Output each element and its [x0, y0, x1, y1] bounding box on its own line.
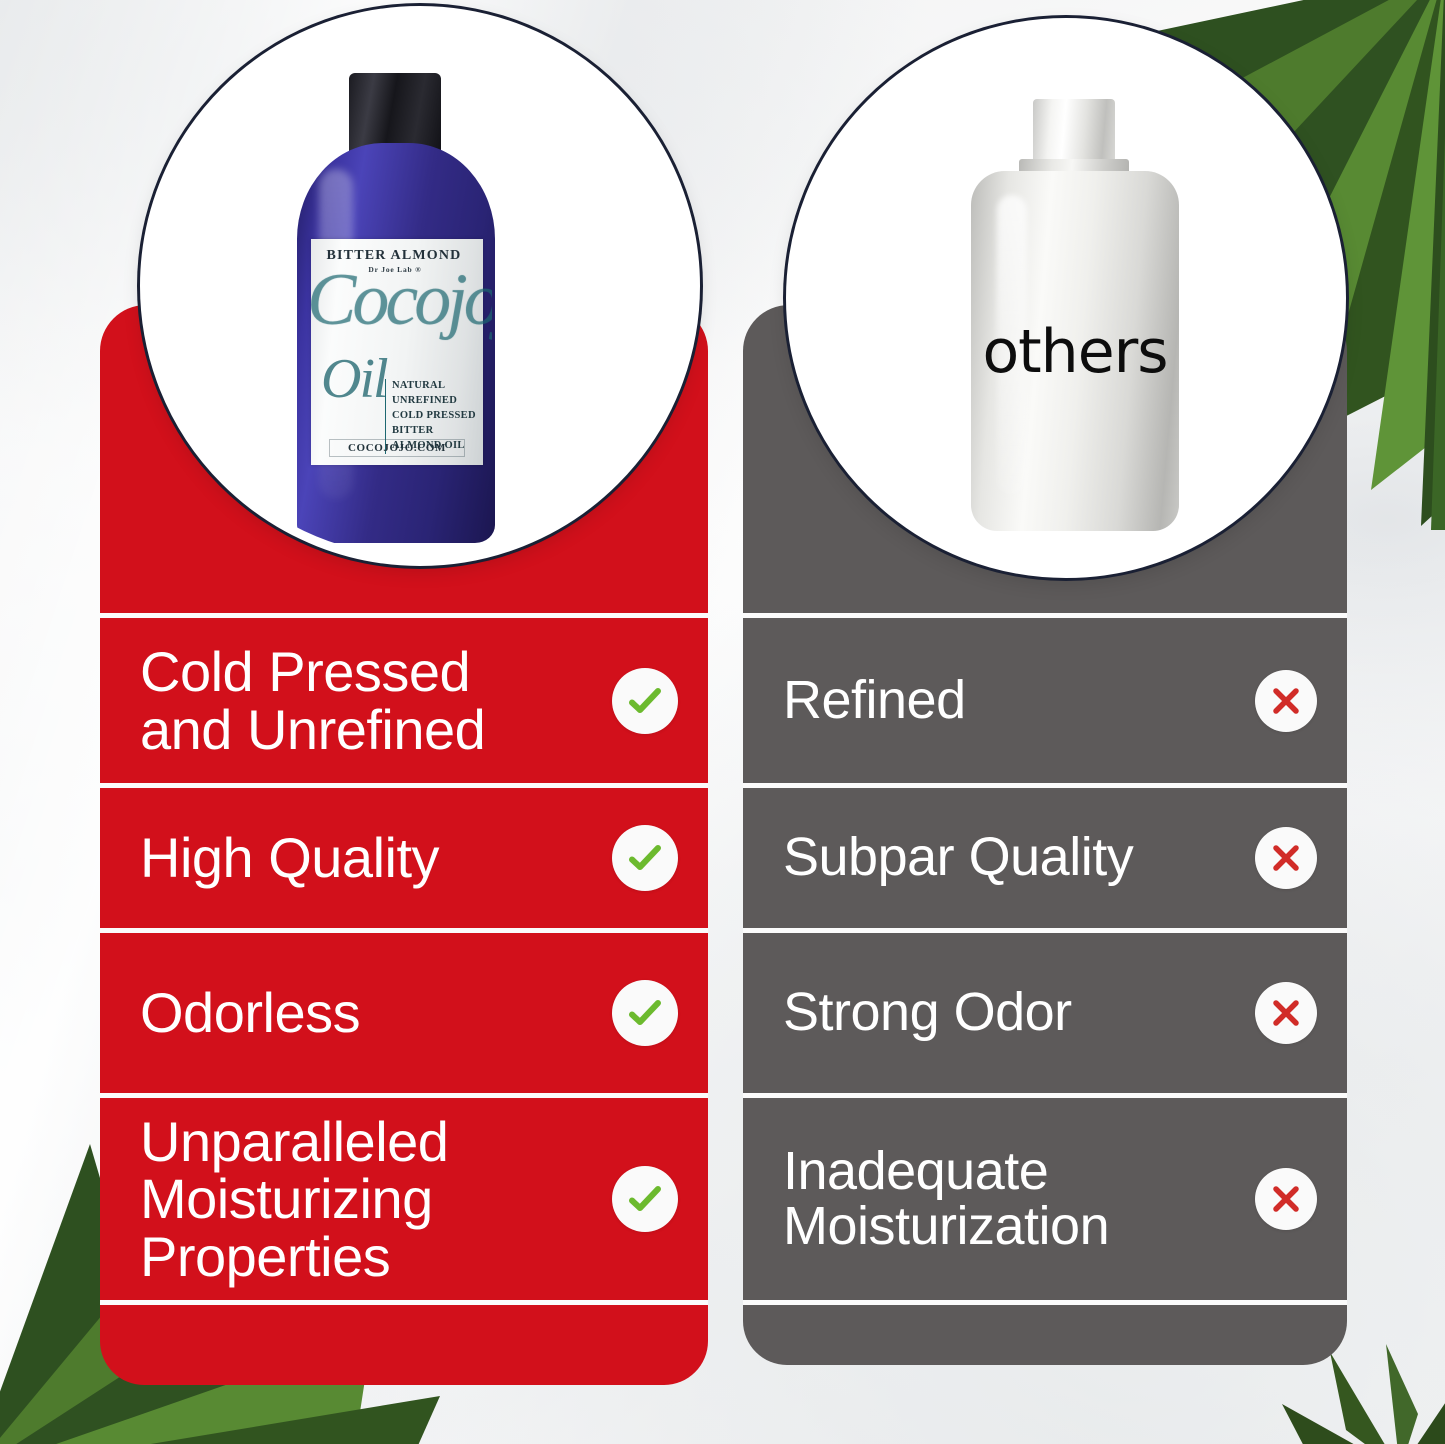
- cross-icon-badge: [1255, 827, 1317, 889]
- check-icon-badge: [612, 1166, 678, 1232]
- others-bottle-image: others: [971, 99, 1179, 531]
- feature-label: Unparalleled Moisturizing Properties: [140, 1113, 448, 1284]
- check-icon: [625, 838, 665, 878]
- bottle-label-title: BITTER ALMOND: [311, 248, 477, 264]
- cross-icon-badge: [1255, 982, 1317, 1044]
- check-icon: [625, 1179, 665, 1219]
- product-image-inner: Cocojojo Oil BITTER ALMOND Dr Joe Lab ® …: [149, 15, 691, 557]
- cross-icon-badge: [1255, 1168, 1317, 1230]
- feature-row-inadequate-moisturization[interactable]: Inadequate Moisturization: [743, 1093, 1347, 1300]
- bottle-label-website: COCOJOJO.COM: [329, 439, 465, 457]
- cross-icon: [1268, 1181, 1304, 1217]
- feature-row-cold-pressed[interactable]: Cold Pressed and Unrefined: [100, 613, 708, 783]
- feature-label: Strong Odor: [783, 985, 1072, 1040]
- check-icon-badge: [612, 980, 678, 1046]
- feature-label: Cold Pressed and Unrefined: [140, 643, 485, 757]
- cross-icon: [1268, 683, 1304, 719]
- product-image-inner: others: [795, 27, 1337, 569]
- feature-label: Refined: [783, 673, 966, 728]
- feature-row-high-quality[interactable]: High Quality: [100, 783, 708, 928]
- feature-rows-bad: Refined Subpar Quality Strong Odor: [743, 613, 1347, 1365]
- bottle-label-subtitle: Dr Joe Lab ®: [311, 265, 479, 274]
- bottle-neck: [1033, 99, 1115, 167]
- feature-label: Odorless: [140, 984, 360, 1041]
- cross-icon-badge: [1255, 670, 1317, 732]
- cross-icon: [1268, 995, 1304, 1031]
- feature-row-refined[interactable]: Refined: [743, 613, 1347, 783]
- others-bottle-label: others: [971, 317, 1179, 387]
- feature-row-odorless[interactable]: Odorless: [100, 928, 708, 1093]
- feature-row-strong-odor[interactable]: Strong Odor: [743, 928, 1347, 1093]
- feature-label: High Quality: [140, 829, 439, 886]
- cross-icon: [1268, 840, 1304, 876]
- product-image-circle-others[interactable]: others: [786, 18, 1346, 578]
- check-icon: [625, 681, 665, 721]
- bottle-label: Cocojojo Oil BITTER ALMOND Dr Joe Lab ® …: [311, 239, 483, 465]
- card-footer-good: [100, 1300, 708, 1385]
- check-icon-badge: [612, 825, 678, 891]
- feature-row-subpar-quality[interactable]: Subpar Quality: [743, 783, 1347, 928]
- feature-row-moisturizing[interactable]: Unparalleled Moisturizing Properties: [100, 1093, 708, 1300]
- feature-label: Subpar Quality: [783, 830, 1133, 885]
- feature-label: Inadequate Moisturization: [783, 1144, 1109, 1254]
- card-footer-bad: [743, 1300, 1347, 1365]
- cocojojo-bottle-image: Cocojojo Oil BITTER ALMOND Dr Joe Lab ® …: [297, 73, 495, 543]
- product-image-circle-cocojojo[interactable]: Cocojojo Oil BITTER ALMOND Dr Joe Lab ® …: [140, 6, 700, 566]
- feature-rows-good: Cold Pressed and Unrefined High Quality …: [100, 613, 708, 1385]
- check-icon-badge: [612, 668, 678, 734]
- check-icon: [625, 993, 665, 1033]
- bottle-label-oil-script: Oil: [321, 347, 387, 411]
